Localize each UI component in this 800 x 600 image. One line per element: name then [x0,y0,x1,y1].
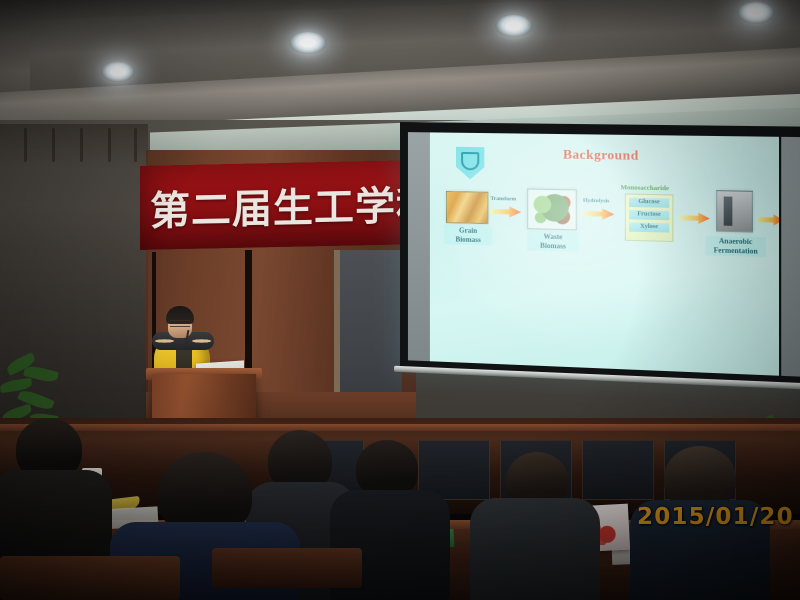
projection-screen: Background Grain Biomass Transform Waste… [400,122,800,390]
ceiling-light-icon [101,62,135,82]
ceiling-light-icon [289,32,327,54]
slide-projection-glow [430,132,779,375]
seat-back-foreground [0,556,180,600]
audience-torso [470,498,600,600]
presentation-slide: Background Grain Biomass Transform Waste… [430,132,779,375]
seating-rail [0,424,800,431]
ceiling-light-icon [495,15,533,37]
audience-member [470,452,600,600]
screen-margin-left [408,132,432,361]
conference-photo: 第二届生工学科 Background Grain Biomass Transfo… [0,0,800,600]
event-banner-text: 第二届生工学科 [150,169,420,241]
seat-back-foreground [212,548,362,588]
presenter-glasses-icon [170,320,190,327]
ceiling-light-icon [737,2,775,24]
screen-margin-right [781,137,800,377]
camera-timestamp: 2015/01/20 [637,504,794,530]
